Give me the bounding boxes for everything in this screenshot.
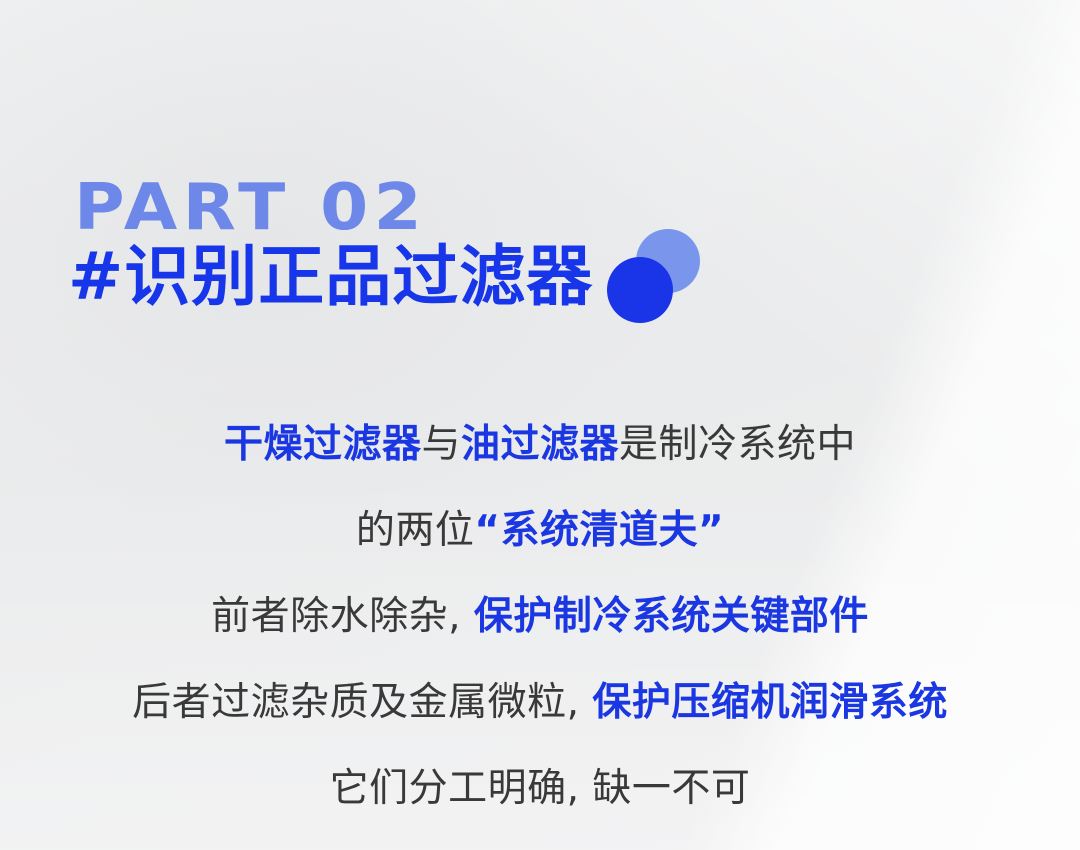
copy-line-1: 干燥过滤器与油过滤器是制冷系统中 [0, 402, 1080, 488]
copy-segment-4-2: 保护压缩机润滑系统 [592, 680, 948, 725]
copy-segment-2-2: “系统清道夫” [474, 508, 724, 553]
copy-segment-2-1: 的两位 [356, 508, 475, 553]
copy-line-2: 的两位“系统清道夫” [0, 488, 1080, 574]
copy-segment-1-2: 与 [421, 422, 461, 467]
copy-segment-3-1: 前者除水除杂, [211, 594, 474, 639]
copy-line-5: 它们分工明确, 缺一不可 [0, 746, 1080, 832]
copy-segment-1-3: 油过滤器 [461, 422, 619, 467]
decorative-dots [607, 229, 707, 325]
copy-line-3: 前者除水除杂, 保护制冷系统关键部件 [0, 574, 1080, 660]
copy-line-4: 后者过滤杂质及金属微粒, 保护压缩机润滑系统 [0, 660, 1080, 746]
page-title: #识别正品过滤器 [68, 241, 593, 312]
header-block: PART 02 #识别正品过滤器 [0, 0, 1080, 360]
headline-row: #识别正品过滤器 [68, 229, 707, 325]
copy-segment-1-4: 是制冷系统中 [619, 422, 856, 467]
copy-segment-5-1: 它们分工明确, 缺一不可 [330, 766, 751, 811]
body-copy: 干燥过滤器与油过滤器是制冷系统中 的两位“系统清道夫” 前者除水除杂, 保护制冷… [0, 402, 1080, 832]
circle-solid-icon [607, 257, 673, 323]
copy-segment-3-2: 保护制冷系统关键部件 [474, 594, 869, 639]
poster-canvas: PART 02 #识别正品过滤器 干燥过滤器与油过滤器是制冷系统中 的两位“系统… [0, 0, 1080, 850]
copy-segment-1-1: 干燥过滤器 [224, 422, 422, 467]
copy-segment-4-1: 后者过滤杂质及金属微粒, [132, 680, 592, 725]
